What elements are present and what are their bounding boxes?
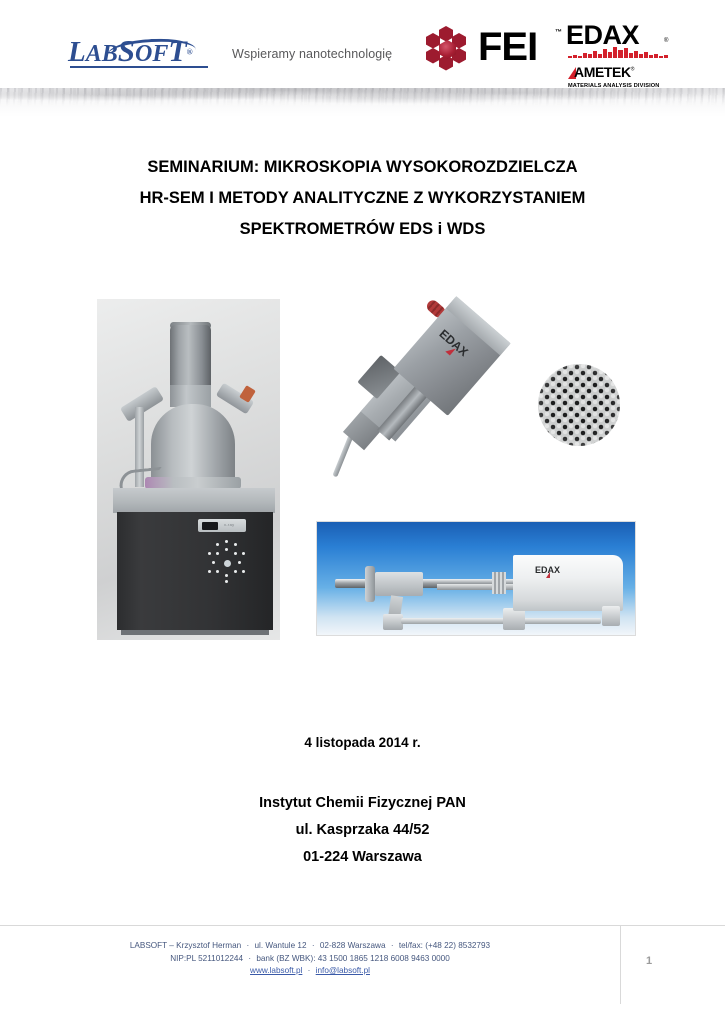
- footer-separator: ·: [305, 966, 314, 975]
- labsoft-letters-of: OF: [135, 41, 168, 67]
- wds-mounting-flange: [365, 566, 375, 602]
- labsoft-wordmark: LABSOFT®: [68, 35, 218, 67]
- header-texture-band: [0, 88, 725, 122]
- venue-institution: Instytut Chemii Fizycznej PAN: [0, 790, 725, 817]
- eds-neck: [361, 358, 442, 441]
- ametek-registered-mark: ®: [631, 67, 635, 73]
- fei-wordmark: FEI: [478, 27, 537, 67]
- footer-phone: tel/fax: (+48 22) 8532793: [399, 941, 490, 950]
- seminar-title: SEMINARIUM: MIKROSKOPIA WYSOKOROZDZIELCZ…: [0, 152, 725, 245]
- edax-registered-mark: ®: [664, 38, 668, 44]
- venue-street: ul. Kasprzaka 44/52: [0, 817, 725, 844]
- eds-collar: [377, 364, 447, 441]
- footer-street: ul. Wantule 12: [255, 941, 307, 950]
- eds-snout: [343, 408, 385, 451]
- event-date: 4 listopada 2014 r.: [0, 735, 725, 750]
- title-line-1: SEMINARIUM: MIKROSKOPIA WYSOKOROZDZIELCZ…: [0, 152, 725, 183]
- page-footer: LABSOFT – Krzysztof Herman · ul. Wantule…: [0, 940, 620, 978]
- ametek-wordmark: AMETEK: [574, 64, 631, 80]
- eds-connector: [425, 298, 448, 320]
- page-number-divider: [620, 926, 621, 1004]
- labsoft-underline-decoration: [70, 66, 208, 68]
- sem-electron-column: [170, 325, 211, 407]
- wds-rear-foot: [602, 606, 620, 626]
- wds-detector-housing: EDAX: [513, 555, 623, 611]
- footer-links-line: www.labsoft.pl · info@labsoft.pl: [0, 965, 620, 978]
- wds-bellows: [492, 572, 506, 594]
- sem-panel-label: x-ray: [224, 522, 234, 527]
- document-page: LABSOFT® Wspieramy nanotechnologię FEI ™…: [0, 0, 725, 1024]
- edax-spectrum-peaks-icon: [568, 47, 668, 58]
- labsoft-letter-s: S: [118, 33, 135, 68]
- wds-cone-section: [375, 572, 423, 596]
- page-number: 1: [634, 955, 664, 967]
- labsoft-letters-ab: AB: [86, 41, 118, 67]
- eds-edax-brand-label: EDAX: [437, 327, 471, 359]
- footer-email-link[interactable]: info@labsoft.pl: [316, 966, 370, 975]
- event-venue: Instytut Chemii Fizycznej PAN ul. Kasprz…: [0, 790, 725, 871]
- title-line-2: HR-SEM I METODY ANALITYCZNE Z WYKORZYSTA…: [0, 183, 725, 214]
- nanoporous-micrograph: [538, 364, 620, 446]
- wds-edax-brand-label: EDAX: [535, 565, 560, 575]
- wds-mid-foot: [503, 608, 525, 630]
- wds-edax-triangle-icon: [546, 572, 550, 578]
- footer-contact-line: LABSOFT – Krzysztof Herman · ul. Wantule…: [0, 940, 620, 953]
- sem-support-post: [135, 407, 144, 487]
- company-tagline: Wspieramy nanotechnologię: [232, 47, 392, 61]
- wds-support-rail: [401, 618, 601, 624]
- title-line-3: SPEKTROMETRÓW EDS i WDS: [0, 214, 725, 245]
- eds-detector-tip: [332, 437, 352, 478]
- edax-wordmark: EDAX: [566, 22, 639, 49]
- sem-console-body: x-ray: [117, 512, 273, 630]
- footer-legal-line: NIP:PL 5211012244 · bank (BZ WBK): 43 15…: [0, 953, 620, 966]
- eds-edax-triangle-icon: [445, 345, 455, 356]
- footer-company-contact: LABSOFT – Krzysztof Herman: [130, 941, 241, 950]
- hexagon-cluster-icon: [424, 27, 470, 71]
- sem-right-detector-port: [216, 383, 254, 415]
- eds-cutaway-detail: [357, 355, 400, 399]
- footer-website-link[interactable]: www.labsoft.pl: [250, 966, 302, 975]
- footer-separator: ·: [245, 954, 254, 963]
- sem-panel-screen: [202, 522, 218, 530]
- wds-secondary-shaft: [437, 584, 612, 590]
- footer-separator: ·: [309, 941, 318, 950]
- venue-city: 01-224 Warszawa: [0, 844, 725, 871]
- footer-divider: [0, 925, 725, 926]
- eds-body-housing: EDAX: [393, 296, 510, 416]
- page-header: LABSOFT® Wspieramy nanotechnologię FEI ™…: [0, 0, 725, 92]
- eds-detector-photo: EDAX: [330, 303, 535, 498]
- fei-dot-pattern-icon: [210, 546, 244, 580]
- wds-front-foot: [383, 614, 403, 630]
- sem-control-panel: x-ray: [198, 519, 246, 532]
- footer-separator: ·: [243, 941, 252, 950]
- footer-city: 02-828 Warszawa: [320, 941, 386, 950]
- sem-cable: [118, 467, 164, 493]
- sem-chamber-base: [145, 477, 241, 489]
- labsoft-letter-l: L: [68, 36, 86, 68]
- footer-separator: ·: [388, 941, 397, 950]
- labsoft-registered-mark: ®: [187, 48, 193, 57]
- ametek-logo: AMETEK® MATERIALS ANALYSIS DIVISION: [568, 64, 678, 89]
- eds-body-top-face: [446, 296, 511, 355]
- footer-bank-account: bank (BZ WBK): 43 1500 1865 1218 6008 94…: [256, 954, 449, 963]
- sem-specimen-chamber: [151, 404, 235, 484]
- footer-tax-id: NIP:PL 5211012244: [170, 954, 243, 963]
- sem-microscope-photo: x-ray: [97, 299, 280, 640]
- sem-column-cap: [170, 322, 211, 329]
- sem-base-foot: [121, 630, 269, 635]
- sem-left-detector-port: [120, 386, 164, 422]
- fei-trademark-mark: ™: [555, 29, 562, 36]
- sem-right-port-tip: [239, 385, 256, 403]
- wds-front-leg: [387, 595, 403, 626]
- wds-spectrometer-photo: EDAX: [316, 521, 636, 636]
- fei-logo: FEI ™: [424, 25, 574, 73]
- wds-main-shaft: [335, 579, 585, 588]
- labsoft-letter-t: T: [168, 35, 186, 68]
- edax-ametek-logo: EDAX ®: [566, 22, 684, 84]
- sem-deck-surface: [113, 488, 275, 513]
- labsoft-logo: LABSOFT®: [68, 35, 218, 71]
